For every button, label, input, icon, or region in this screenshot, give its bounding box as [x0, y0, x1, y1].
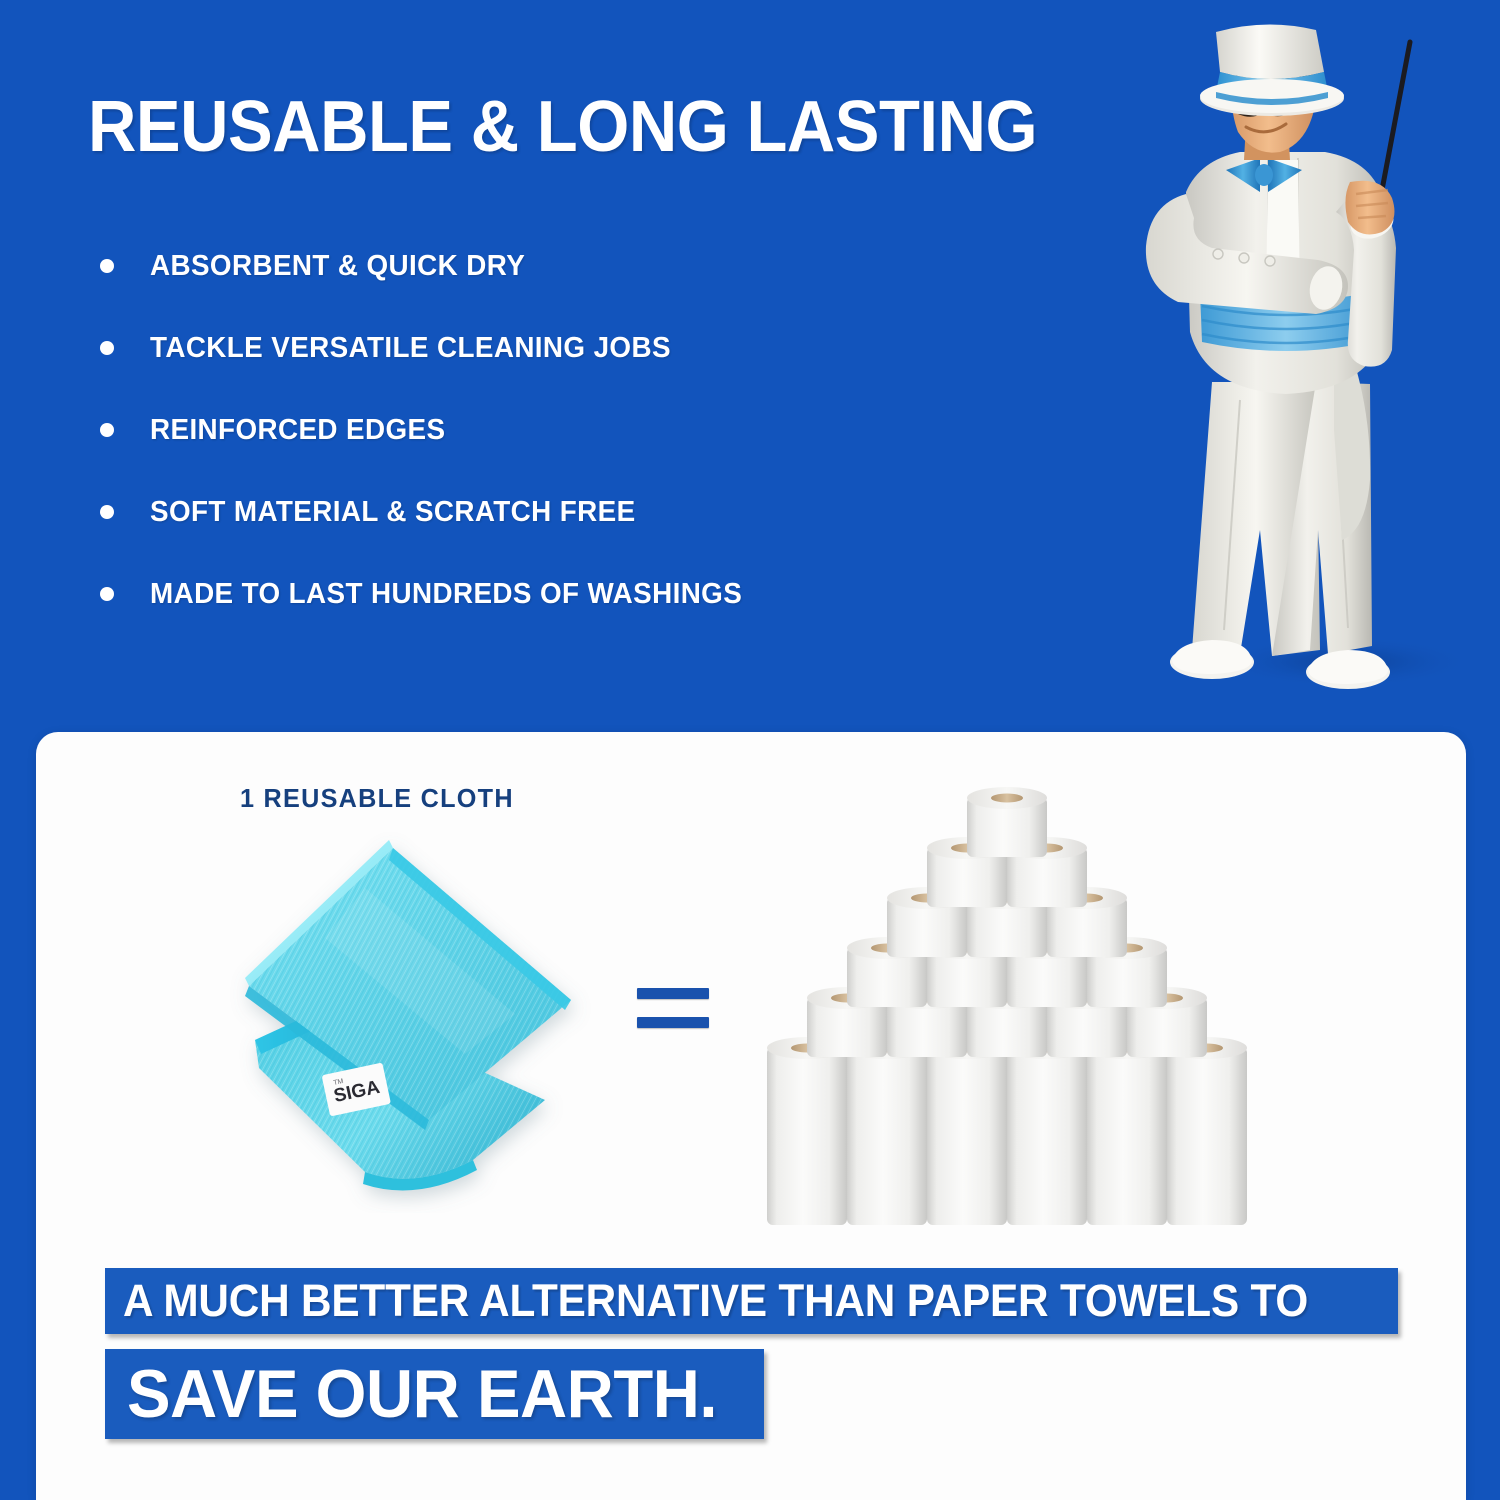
equals-bar-top: [637, 988, 709, 999]
list-item-label: REINFORCED EDGES: [150, 414, 445, 447]
footer-line-2: SAVE OUR EARTH.: [127, 1355, 717, 1433]
list-item: TACKLE VERSATILE CLEANING JOBS: [100, 307, 1100, 389]
bullet-dot-icon: [100, 341, 114, 355]
footer-line-1: A MUCH BETTER ALTERNATIVE THAN PAPER TOW…: [123, 1275, 1308, 1327]
paper-towel-roll-stack: [755, 785, 1265, 1235]
bullet-dot-icon: [100, 259, 114, 273]
list-item: SOFT MATERIAL & SCRATCH FREE: [100, 471, 1100, 553]
equals-sign-icon: [637, 988, 709, 1028]
bullet-dot-icon: [100, 505, 114, 519]
feature-bullet-list: ABSORBENT & QUICK DRY TACKLE VERSATILE C…: [100, 225, 1100, 635]
list-item: ABSORBENT & QUICK DRY: [100, 225, 1100, 307]
cloth-quantity-label: 1 REUSABLE CLOTH: [240, 783, 514, 814]
list-item-label: TACKLE VERSATILE CLEANING JOBS: [150, 332, 671, 365]
bullet-dot-icon: [100, 423, 114, 437]
list-item-label: SOFT MATERIAL & SCRATCH FREE: [150, 496, 636, 529]
footer-banner-secondary: SAVE OUR EARTH.: [105, 1349, 764, 1439]
list-item: MADE TO LAST HUNDREDS OF WASHINGS: [100, 553, 1100, 635]
gentleman-mascot-icon: [1120, 10, 1500, 710]
paper-roll-pyramid-icon: [755, 785, 1265, 1235]
list-item-label: ABSORBENT & QUICK DRY: [150, 250, 525, 283]
mascot-illustration: [1120, 10, 1500, 710]
list-item-label: MADE TO LAST HUNDREDS OF WASHINGS: [150, 578, 742, 611]
list-item: REINFORCED EDGES: [100, 389, 1100, 471]
equals-bar-bottom: [637, 1017, 709, 1028]
folded-cloth-icon: SIGA TM: [215, 828, 605, 1213]
microfiber-cloth-image: SIGA TM: [215, 828, 605, 1213]
bullet-dot-icon: [100, 587, 114, 601]
page-title: REUSABLE & LONG LASTING: [88, 86, 1037, 168]
footer-banner-primary: A MUCH BETTER ALTERNATIVE THAN PAPER TOW…: [105, 1268, 1398, 1334]
product-infographic: REUSABLE & LONG LASTING ABSORBENT & QUIC…: [0, 0, 1500, 1500]
